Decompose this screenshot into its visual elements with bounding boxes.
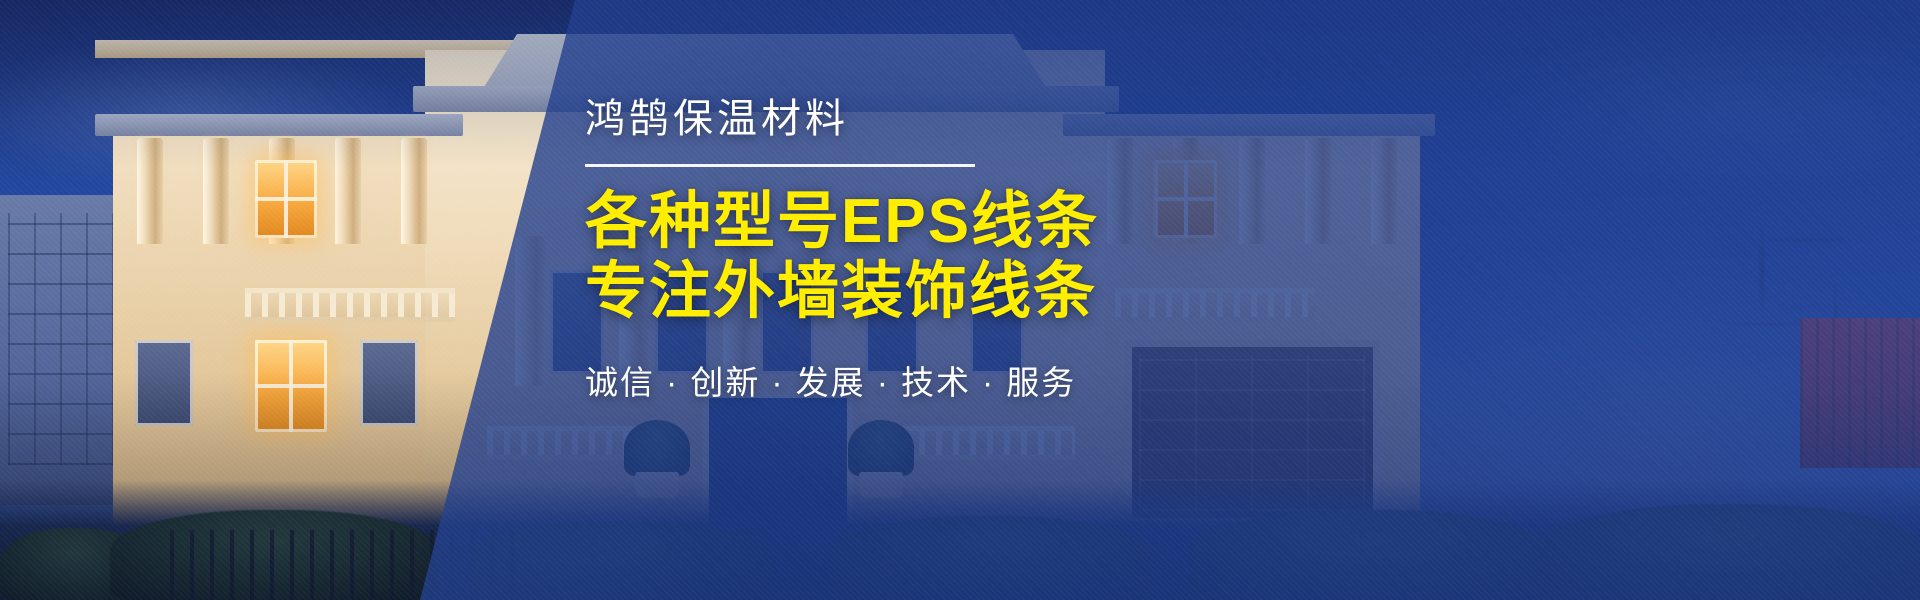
cornice (95, 114, 463, 136)
window-mullion (255, 160, 317, 238)
brand-name: 鸿鹄保温材料 (585, 96, 1485, 142)
tagline: 诚信 · 创新 · 发展 · 技术 · 服务 (585, 363, 1485, 403)
balustrade (245, 288, 455, 322)
lit-window (255, 340, 327, 432)
headline-line-2: 专注外墙装饰线条 (585, 257, 1485, 327)
divider-rule (585, 164, 975, 167)
hero-banner: 鸿鹄保温材料 各种型号EPS线条 专注外墙装饰线条 诚信 · 创新 · 发展 ·… (0, 0, 1920, 600)
column (401, 138, 427, 244)
dark-window (360, 340, 418, 426)
column (335, 138, 361, 244)
lit-window (255, 160, 317, 238)
column (137, 138, 163, 244)
window-mullion (255, 340, 327, 432)
column (203, 138, 229, 244)
dark-window (135, 340, 193, 426)
headline-line-1: 各种型号EPS线条 (585, 187, 1485, 257)
banner-text-block: 鸿鹄保温材料 各种型号EPS线条 专注外墙装饰线条 诚信 · 创新 · 发展 ·… (585, 96, 1485, 403)
